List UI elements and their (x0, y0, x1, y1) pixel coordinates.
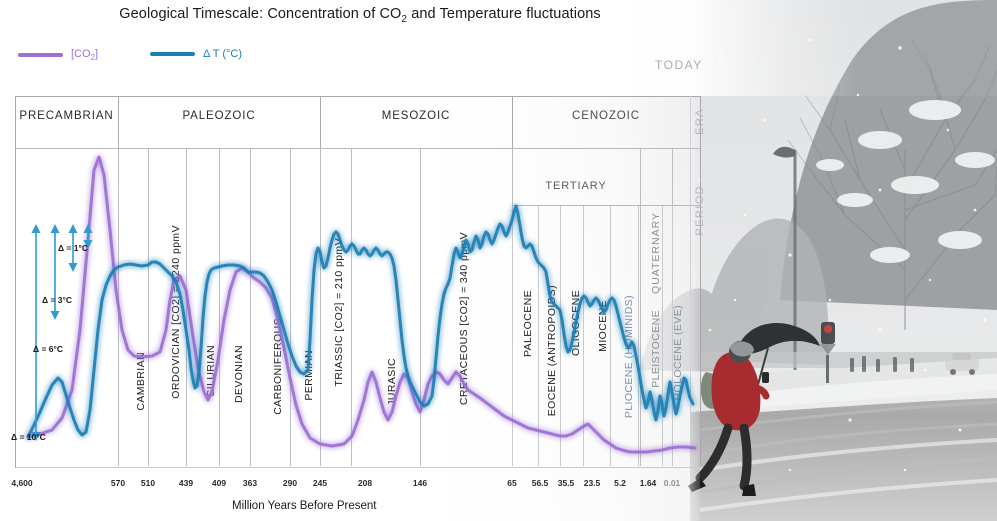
legend-swatch-temperature (150, 52, 195, 56)
period-gridline (351, 148, 352, 466)
period-gridline (148, 148, 149, 466)
epoch-gridline (538, 205, 539, 466)
era-gridline (15, 96, 16, 466)
period-gridline (219, 148, 220, 466)
screenshot-root: Geological Timescale: Concentration of C… (0, 0, 997, 521)
x-axis-tick: 146 (413, 478, 427, 488)
era-label-mesozoic: MESOZOIC (320, 110, 512, 122)
period-row-divider (512, 205, 700, 206)
x-axis-tick: 1.64 (640, 478, 657, 488)
epoch-gridline (610, 205, 611, 466)
period-gridline (118, 148, 119, 466)
period-name-triassic-co2-210-ppmv: TRIASSIC [CO2] = 210 ppmV (333, 238, 345, 387)
period-name-pliocene-hominids: PLIOCENE (HOMINIDS) (623, 295, 635, 418)
era-label-cenozoic: CENOZOIC (512, 110, 700, 122)
period-name-holocene-eve: HOLOCENE (EVE) (672, 305, 684, 400)
period-name-cambrian: CAMBRIAN (135, 352, 147, 411)
period-name-carboniferous: CARBONIFEROUS (272, 318, 284, 415)
period-row-label-tertiary: TERTIARY (512, 180, 640, 192)
legend-item-temperature: Δ T (°C) (150, 48, 242, 60)
x-axis-tick: 56.5 (532, 478, 549, 488)
period-name-permian: PERMIAN (303, 350, 315, 401)
x-axis-tick: 290 (283, 478, 297, 488)
delta-annotation: Δ = 1°C (58, 243, 88, 253)
period-name-pleistocene: PLEISTOCENE (650, 310, 662, 388)
period-name-eocene-antropoids: EOCENE (ANTROPOIDS) (546, 285, 558, 416)
x-axis-title: Million Years Before Present (232, 500, 376, 512)
x-axis-tick: 208 (358, 478, 372, 488)
epoch-gridline (662, 205, 663, 466)
x-axis-tick: 0.01 (664, 478, 681, 488)
epoch-gridline (512, 205, 513, 466)
x-axis-tick: 35.5 (558, 478, 575, 488)
era-label-precambrian: PRECAMBRIAN (15, 110, 118, 122)
x-axis-tick: 363 (243, 478, 257, 488)
legend-item-co2: [CO2] (18, 48, 98, 62)
period-row-label-quaternary: QUATERNARY (650, 212, 662, 294)
epoch-gridline (583, 205, 584, 466)
delta-annotation: Δ = 10°C (11, 432, 46, 442)
legend-label-co2: [CO2] (71, 48, 98, 62)
period-name-devonian: DEVONIAN (233, 345, 245, 403)
chart-grid (15, 96, 700, 466)
period-name-cretaceous-co2-340-ppmv: CRETACEOUS [CO2] = 340 ppmV (458, 232, 470, 405)
period-gridline (420, 148, 421, 466)
period-gridline (290, 148, 291, 466)
period-gridline (320, 148, 321, 466)
page-title: Geological Timescale: Concentration of C… (0, 6, 720, 25)
title-post: and Temperature fluctuations (407, 6, 601, 22)
x-axis-tick: 570 (111, 478, 125, 488)
period-name-paleocene: PALEOCENE (522, 290, 534, 357)
period-name-oligocene: OLIGOCENE (570, 290, 582, 356)
era-row-divider (15, 148, 700, 149)
period-name-jurasic: JURASIC (386, 358, 398, 406)
epoch-gridline (638, 205, 639, 466)
x-axis-tick: 65 (507, 478, 516, 488)
today-label: TODAY (655, 58, 703, 72)
period-gridline (186, 148, 187, 466)
title-pre: Geological Timescale: Concentration of C… (119, 6, 401, 22)
period-name-silurian: SILURIAN (205, 345, 217, 397)
era-label-paleozoic: PALEOZOIC (118, 110, 320, 122)
x-axis-tick: 510 (141, 478, 155, 488)
x-axis-tick: 5.2 (614, 478, 626, 488)
row-label-period: PERIOD (694, 185, 706, 236)
period-gridline (640, 148, 641, 466)
period-name-ordovician-co2-2240-ppmv: ORDOVICIAN [CO2] = 2240 ppmV (170, 225, 182, 399)
era-period-column-divider (690, 96, 691, 466)
x-axis-tick: 245 (313, 478, 327, 488)
delta-annotation: Δ = 3°C (42, 295, 72, 305)
period-name-miocene: MIOCENE (597, 300, 609, 352)
era-gridline (700, 96, 701, 466)
x-axis-tick: 4,600 (11, 478, 32, 488)
x-axis-tick: 23.5 (584, 478, 601, 488)
x-axis-tick: 409 (212, 478, 226, 488)
delta-annotation: Δ = 6°C (33, 344, 63, 354)
legend-swatch-co2 (18, 53, 63, 57)
epoch-gridline (560, 205, 561, 466)
x-axis-tick: 439 (179, 478, 193, 488)
legend-label-temperature: Δ T (°C) (203, 48, 242, 60)
period-gridline (250, 148, 251, 466)
